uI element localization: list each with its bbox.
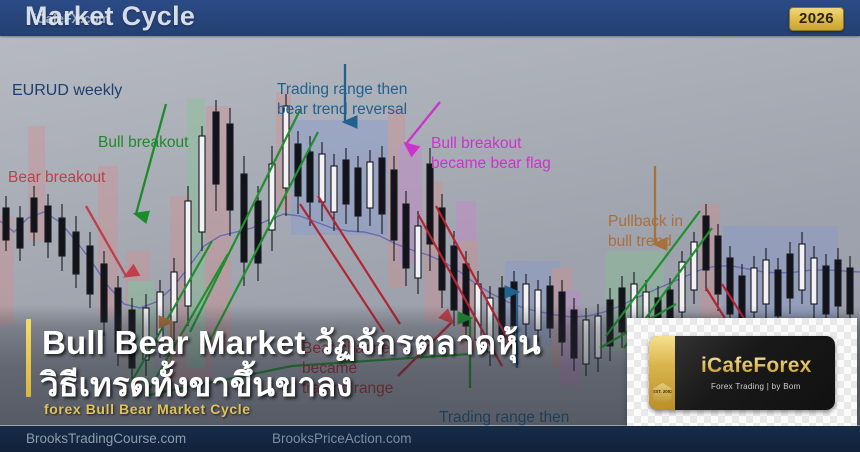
annotation-pullback-bull-trend: Pullback in bull trend	[608, 212, 683, 252]
brand-logo-card: EST. 2002 iCafeForex Forex Trading | by …	[627, 318, 857, 428]
logo-plate: EST. 2002 iCafeForex Forex Trading | by …	[649, 336, 835, 410]
annotation-trading-range-reversal: Trading range then bear trend reversal	[277, 80, 407, 120]
arrow-bull-breakout	[136, 104, 166, 214]
annotation-bull-breakout-bear-flag: Bull breakout became bear flag	[431, 134, 551, 174]
overlay-subtitle: forex Bull Bear Market Cycle	[44, 401, 251, 417]
logo-tagline: Forex Trading | by Bom	[711, 382, 801, 391]
year-badge: 2026	[789, 7, 844, 31]
logo-brand-name: iCafeForex	[701, 354, 812, 378]
annotation-bear-breakout: Bear breakout	[8, 168, 105, 188]
annotation-bull-breakout: Bull breakout	[98, 133, 188, 153]
footer-link-trading-course[interactable]: BrooksTradingCourse.com	[26, 431, 186, 446]
screenshot-root: Market Cycle iCafeFX.com 2026	[0, 0, 860, 452]
accent-bar	[26, 319, 31, 397]
footer-bar: BrooksTradingCourse.com BrooksPriceActio…	[0, 426, 860, 452]
title-bar: Market Cycle iCafeFX.com 2026	[0, 0, 860, 36]
watermark-text: iCafeFX.com	[33, 11, 110, 26]
chart-symbol-label: EURUD weekly	[12, 82, 122, 100]
footer-link-price-action[interactable]: BrooksPriceAction.com	[272, 431, 412, 446]
